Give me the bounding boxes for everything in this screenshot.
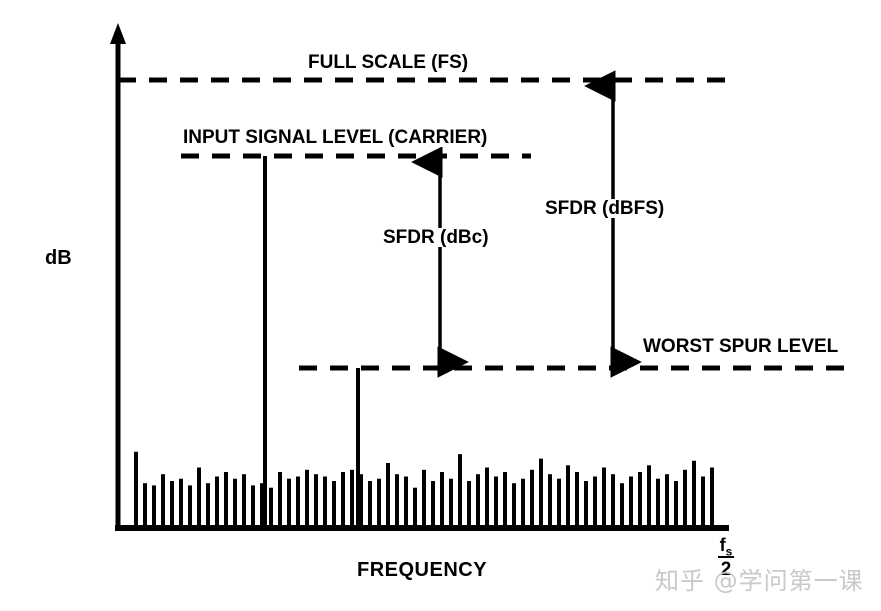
y-axis [110,23,126,528]
worst-spur-level-label: WORST SPUR LEVEL [640,337,841,356]
watermark: 知乎 @学问第一课 [655,561,864,596]
x-axis-label: FREQUENCY [357,560,487,580]
y-axis-label: dB [45,248,72,268]
figure-canvas: FULL SCALE (FS) INPUT SIGNAL LEVEL (CARR… [0,0,881,611]
fs2-numerator: fs [706,536,746,555]
input-signal-level-label: INPUT SIGNAL LEVEL (CARRIER) [180,128,490,147]
y-axis-arrow-head [110,23,126,44]
spectrum-diagram [0,0,881,611]
full-scale-label: FULL SCALE (FS) [305,53,471,72]
sfdr-dbc-label: SFDR (dBc) [378,228,494,247]
noise-floor-spikes [136,452,712,528]
sfdr-dbfs-label: SFDR (dBFS) [540,199,669,218]
